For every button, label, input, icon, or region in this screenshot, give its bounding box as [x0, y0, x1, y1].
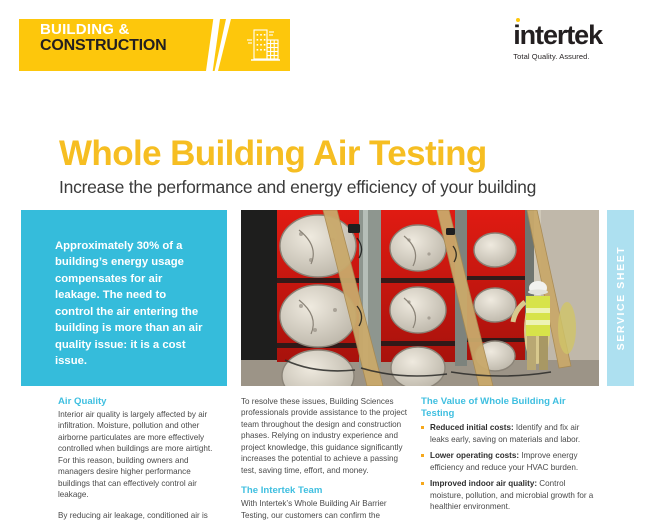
service-sheet-tab: SERVICE SHEET	[607, 210, 634, 386]
value-bullet-lead: Improved indoor air quality:	[430, 479, 537, 488]
hero-photo	[241, 210, 599, 386]
section-heading-intertek-team: The Intertek Team	[241, 485, 409, 497]
body-columns: Air Quality Interior air quality is larg…	[0, 396, 650, 520]
title-block: Whole Building Air Testing Increase the …	[59, 136, 619, 198]
air-quality-paragraph-2: By reducing air leakage, conditioned air…	[58, 510, 221, 520]
section-heading-value: The Value of Whole Building Air Testing	[421, 396, 599, 419]
logo-wordmark: intertek	[513, 22, 602, 49]
column-intertek-team: To resolve these issues, Building Scienc…	[241, 396, 409, 520]
value-bullet-list: Reduced initial costs: Identify and fix …	[421, 422, 599, 520]
column-value: The Value of Whole Building Air Testing …	[421, 396, 599, 520]
logo-text: intertek	[513, 20, 602, 50]
category-line-1: BUILDING &	[40, 22, 215, 38]
value-bullet-item: Lower operating costs: Improve energy ef…	[421, 450, 599, 473]
value-bullet-lead: Lower operating costs:	[430, 451, 519, 460]
page-title: Whole Building Air Testing	[59, 136, 619, 172]
category-line-2: CONSTRUCTION	[40, 38, 215, 55]
column-air-quality: Air Quality Interior air quality is larg…	[58, 396, 221, 520]
statistic-callout-box: Approximately 30% of a building’s energy…	[21, 210, 227, 386]
value-bullet-item: Improved indoor air quality: Control moi…	[421, 478, 599, 512]
callout-text: Approximately 30% of a building’s energy…	[55, 238, 205, 370]
service-sheet-page: BUILDING & CONSTRUCTION	[0, 0, 650, 520]
building-icon	[243, 26, 283, 64]
logo-tagline: Total Quality. Assured.	[513, 52, 602, 61]
intertek-logo: intertek Total Quality. Assured.	[513, 22, 602, 61]
section-heading-air-quality: Air Quality	[58, 396, 221, 408]
air-quality-paragraph-1: Interior air quality is largely affected…	[58, 409, 221, 501]
team-paragraph-2: With Intertek’s Whole Building Air Barri…	[241, 498, 409, 520]
value-bullet-item: Reduced initial costs: Identify and fix …	[421, 422, 599, 445]
category-label: BUILDING & CONSTRUCTION	[40, 22, 215, 54]
value-bullet-lead: Reduced initial costs:	[430, 423, 514, 432]
page-header: BUILDING & CONSTRUCTION	[0, 0, 650, 100]
page-subtitle: Increase the performance and energy effi…	[59, 177, 619, 197]
team-paragraph-1: To resolve these issues, Building Scienc…	[241, 396, 409, 476]
service-sheet-tab-label: SERVICE SHEET	[615, 246, 627, 351]
